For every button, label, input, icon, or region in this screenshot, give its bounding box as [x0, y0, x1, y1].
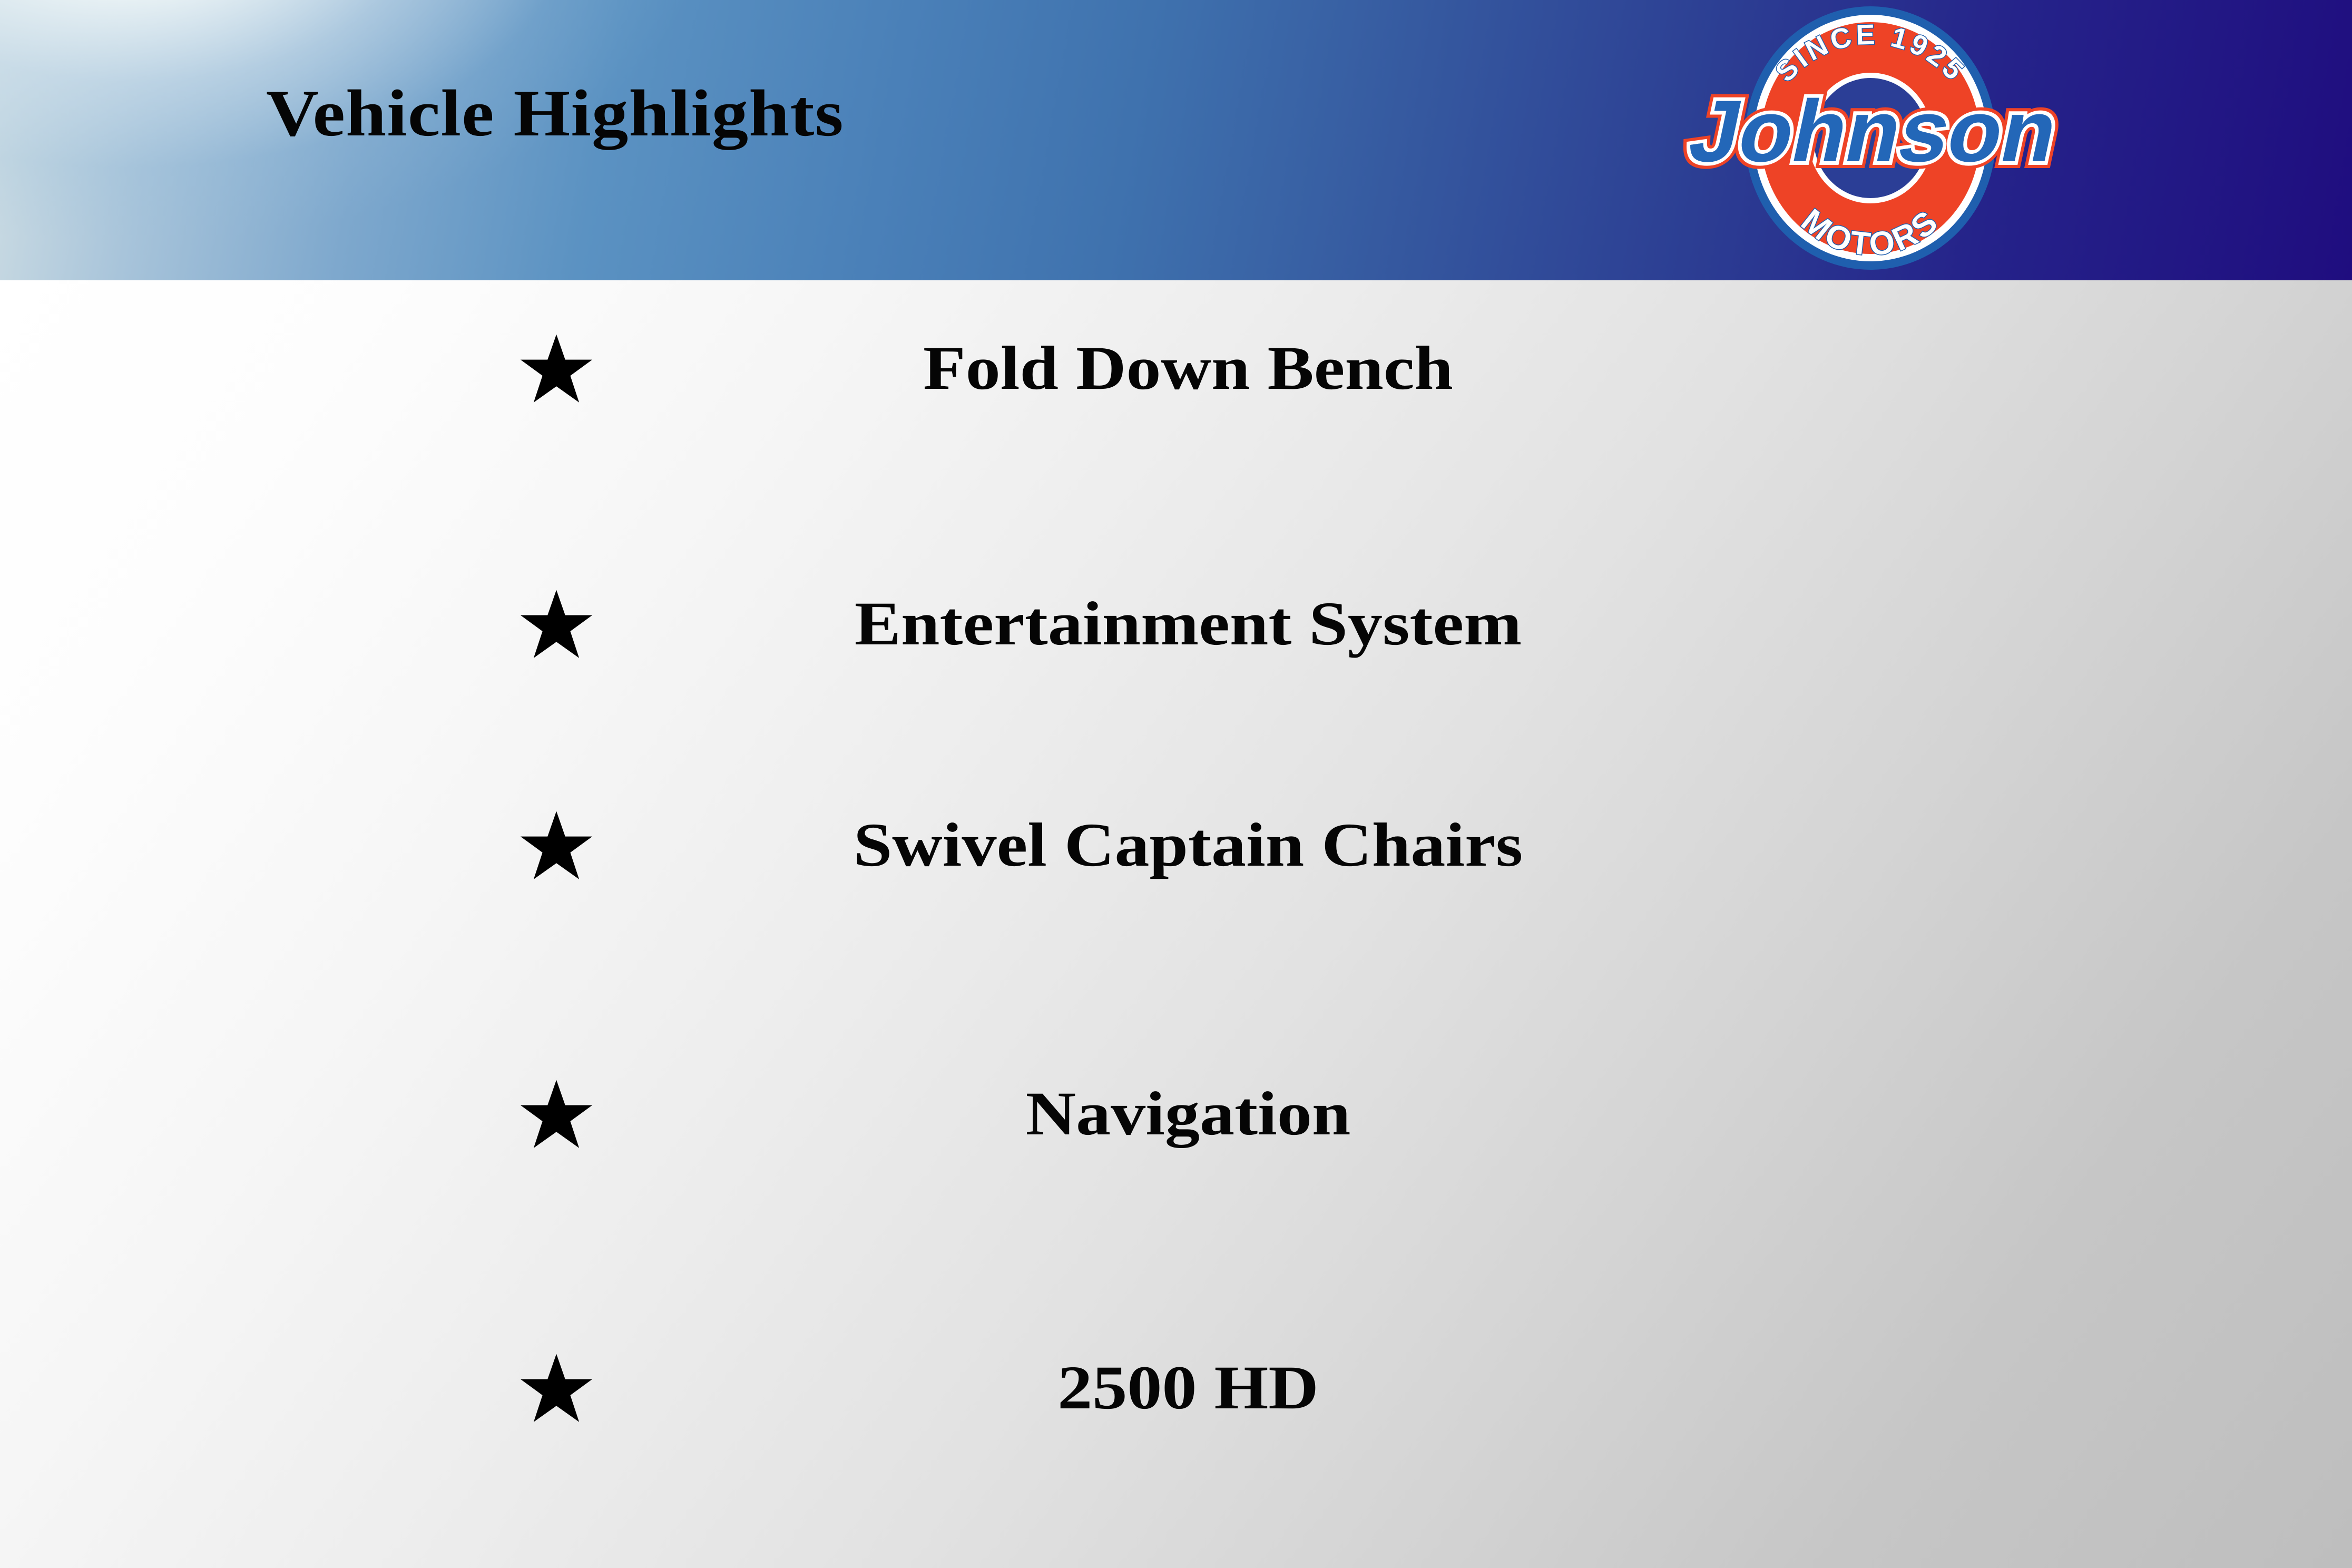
list-item-label: Swivel Captain Chairs	[536, 814, 1840, 876]
feature-list: Fold Down Bench Entertainment System Swi…	[0, 0, 2352, 1568]
list-item-label: Navigation	[536, 1083, 1840, 1145]
list-item-label: Entertainment System	[536, 593, 1840, 655]
list-item-label: 2500 HD	[536, 1357, 1840, 1419]
slide-vehicle-highlights: Vehicle Highlights SINCE 1925	[0, 0, 2352, 1568]
list-item-label: Fold Down Bench	[536, 337, 1840, 399]
